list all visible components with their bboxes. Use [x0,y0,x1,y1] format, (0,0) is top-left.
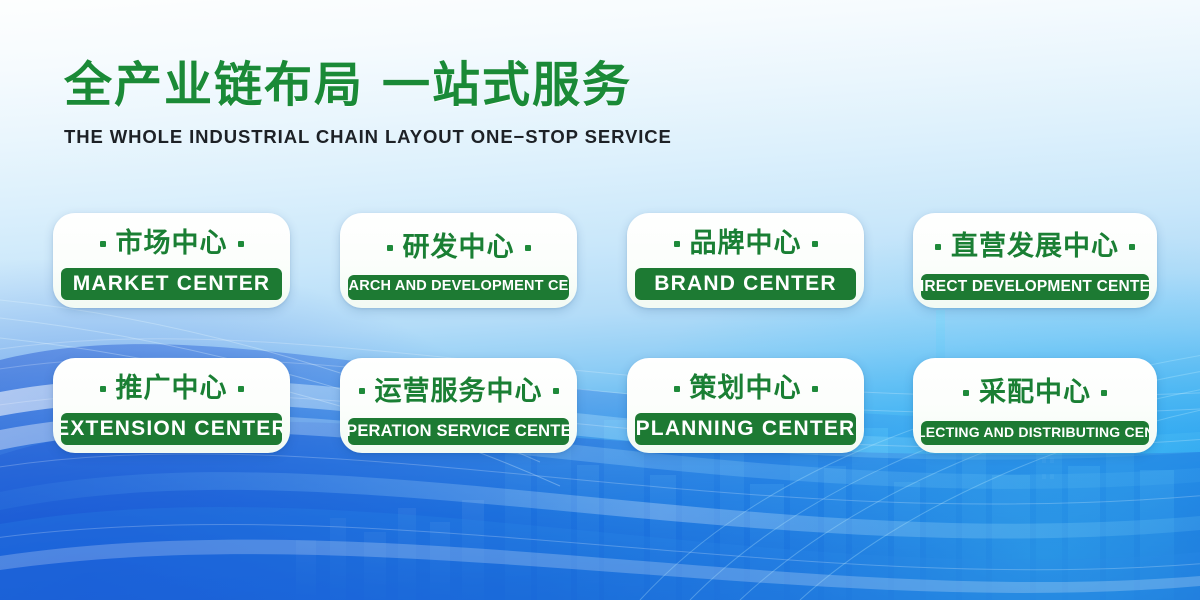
center-card-grid: 市场中心MARKET CENTER研发中心RESEARCH AND DEVELO… [0,0,1200,600]
card-title-row: 采配中心 [921,365,1149,421]
bullet-dot-icon [238,386,244,392]
card-title-row: 研发中心 [348,220,569,275]
center-card[interactable]: 推广中心EXTENSION CENTER [53,358,290,453]
center-card[interactable]: 市场中心MARKET CENTER [53,213,290,308]
card-title-cn: 策划中心 [690,375,802,402]
card-subtitle-en: EXTENSION CENTER [61,413,282,445]
card-title-cn: 运营服务中心 [375,378,543,405]
bullet-dot-icon [963,390,969,396]
card-title-cn: 推广中心 [116,375,228,402]
bullet-dot-icon [1101,390,1107,396]
bullet-dot-icon [1129,244,1135,250]
card-title-cn: 市场中心 [116,230,228,257]
card-title-row: 直营发展中心 [921,220,1149,274]
bullet-dot-icon [674,386,680,392]
bullet-dot-icon [935,244,941,250]
card-title-row: 运营服务中心 [348,365,569,418]
card-subtitle-en: RESEARCH AND DEVELOPMENT CENTER [348,275,569,300]
bullet-dot-icon [359,388,365,394]
bullet-dot-icon [553,388,559,394]
card-subtitle-en: COLLECTING AND DISTRIBUTING CENTER [921,421,1149,445]
card-title-cn: 研发中心 [403,234,515,261]
poster-canvas: 全产业链布局一站式服务 THE WHOLE INDUSTRIAL CHAIN L… [0,0,1200,600]
bullet-dot-icon [387,245,393,251]
card-subtitle-en: PLANNING CENTER [635,413,856,445]
card-subtitle-en: OPERATION SERVICE CENTER [348,418,569,445]
bullet-dot-icon [812,241,818,247]
center-card[interactable]: 采配中心COLLECTING AND DISTRIBUTING CENTER [913,358,1157,453]
bullet-dot-icon [100,241,106,247]
center-card[interactable]: 研发中心RESEARCH AND DEVELOPMENT CENTER [340,213,577,308]
card-subtitle-en: BRAND CENTER [635,268,856,300]
card-title-row: 市场中心 [61,220,282,268]
center-card[interactable]: 运营服务中心OPERATION SERVICE CENTER [340,358,577,453]
card-title-row: 策划中心 [635,365,856,413]
card-subtitle-en: DIRECT DEVELOPMENT CENTER [921,274,1149,300]
bullet-dot-icon [100,386,106,392]
bullet-dot-icon [812,386,818,392]
bullet-dot-icon [674,241,680,247]
bullet-dot-icon [238,241,244,247]
center-card[interactable]: 品牌中心BRAND CENTER [627,213,864,308]
center-card[interactable]: 策划中心PLANNING CENTER [627,358,864,453]
card-title-cn: 采配中心 [979,379,1091,406]
card-title-row: 推广中心 [61,365,282,413]
bullet-dot-icon [525,245,531,251]
card-title-row: 品牌中心 [635,220,856,268]
card-title-cn: 直营发展中心 [951,233,1119,260]
center-card[interactable]: 直营发展中心DIRECT DEVELOPMENT CENTER [913,213,1157,308]
card-title-cn: 品牌中心 [690,230,802,257]
card-subtitle-en: MARKET CENTER [61,268,282,300]
